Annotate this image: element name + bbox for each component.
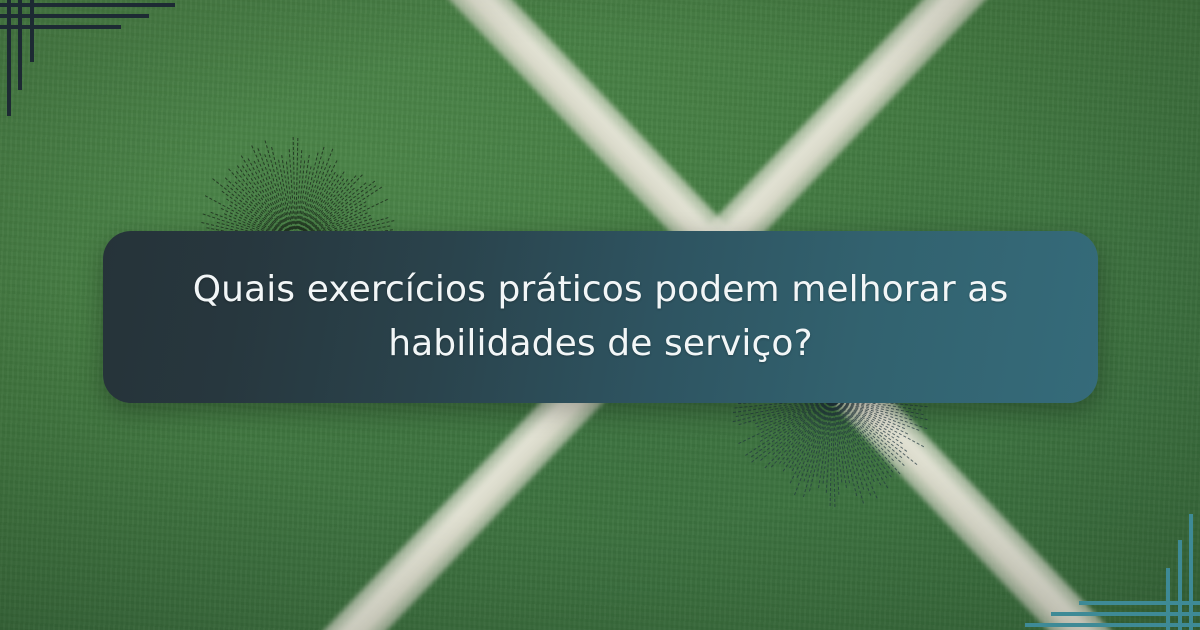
social-card-canvas: Quais exercícios práticos podem melhorar… [0,0,1200,630]
question-card: Quais exercícios práticos podem melhorar… [103,231,1098,403]
question-text: Quais exercícios práticos podem melhorar… [161,263,1041,371]
